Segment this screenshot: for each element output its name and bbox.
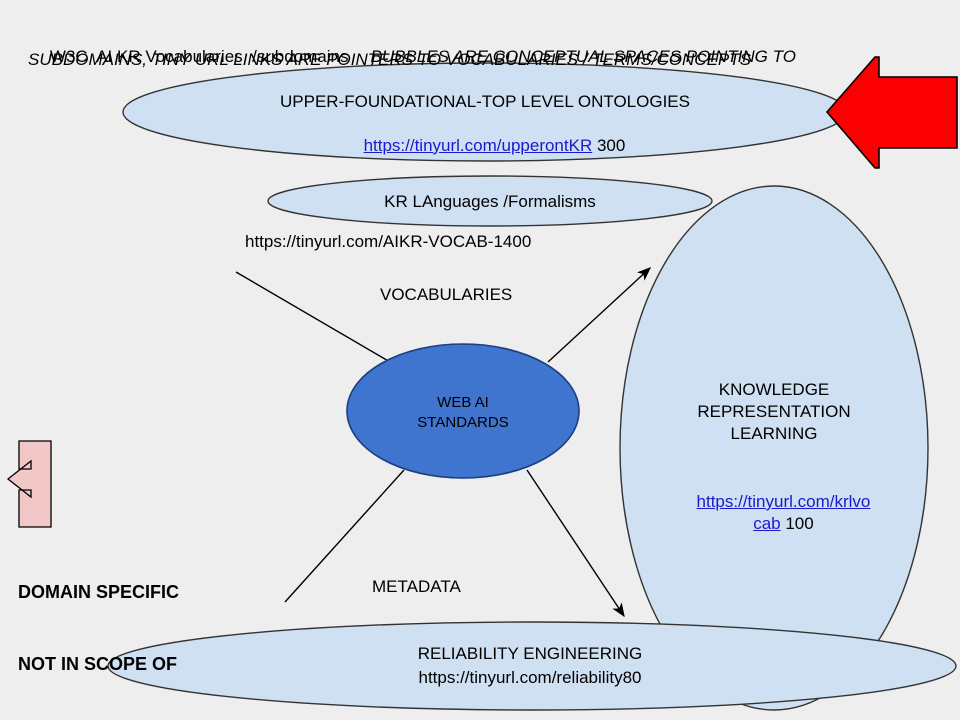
web-ai-standards-line-1: WEB AI xyxy=(363,394,563,413)
reliability-title: RELIABILITY ENGINEERING xyxy=(330,644,730,664)
kr-learning-link-part-2[interactable]: cab xyxy=(753,514,780,533)
aikr-vocab-url-label: https://tinyurl.com/AIKR-VOCAB-1400 xyxy=(245,232,531,252)
bubble-reliability-engineering[interactable] xyxy=(108,622,956,710)
metadata-label: METADATA xyxy=(372,577,461,597)
kr-learning-title-line-2: REPRESENTATION xyxy=(664,401,884,424)
upper-ontologies-count: 300 xyxy=(592,136,625,155)
web-ai-standards-line-2: STANDARDS xyxy=(363,414,563,433)
pink-left-arrow xyxy=(8,441,51,527)
upper-ontologies-link-row: https://tinyurl.com/upperontKR 300 xyxy=(185,116,785,175)
reliability-link: https://tinyurl.com/reliability80 xyxy=(330,668,730,688)
upper-ontologies-title: UPPER-FOUNDATIONAL-TOP LEVEL ONTOLOGIES xyxy=(185,92,785,112)
kr-learning-title-line-3: LEARNING xyxy=(664,423,884,446)
kr-learning-count: 100 xyxy=(781,514,814,533)
domain-specific-note: DOMAIN SPECIFIC NOT IN SCOPE OF THE AI K… xyxy=(18,531,179,720)
upper-ontologies-link[interactable]: https://tinyurl.com/upperontKR xyxy=(364,136,593,155)
kr-languages-title: KR LAnguages /Formalisms xyxy=(290,192,690,212)
kr-learning-title-line-1: KNOWLEDGE xyxy=(664,379,884,402)
connector-upper-left xyxy=(236,272,390,362)
header-line-2: SUBDOMAINS, TINY URL LINKS ARE POINTERS … xyxy=(28,50,751,70)
kr-learning-link-line-2: cab 100 xyxy=(664,490,884,559)
vocabularies-label: VOCABULARIES xyxy=(380,285,512,305)
red-left-arrow xyxy=(827,57,957,168)
connector-lower-right-arrow xyxy=(527,470,624,616)
slide-canvas: W3C AI KR Vocabularies /subdomainsBUBBLE… xyxy=(0,0,960,720)
domain-specific-note-line-2: NOT IN SCOPE OF xyxy=(18,652,179,676)
domain-specific-note-line-1: DOMAIN SPECIFIC xyxy=(18,580,179,604)
